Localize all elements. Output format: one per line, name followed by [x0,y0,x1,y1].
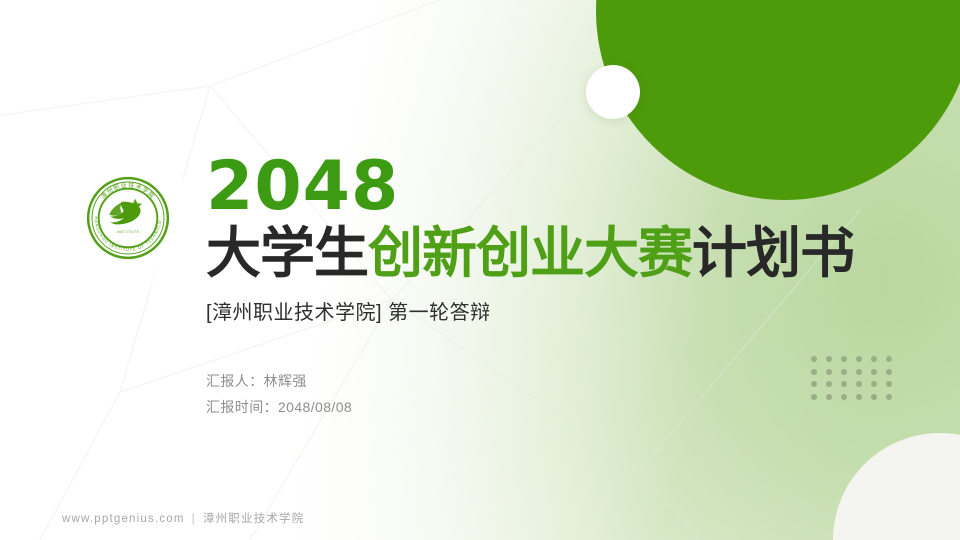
grid-dot [811,356,817,362]
grid-dot [841,369,847,375]
subtitle: [漳州职业技术学院] 第一轮答辩 [206,296,846,325]
grid-dot [886,369,892,375]
headline-tail: 计划书 [692,222,854,284]
grid-dot [886,381,892,387]
grid-dot [856,381,862,387]
headline-highlight: 创新创业大赛 [368,222,692,284]
grid-dot [871,369,877,375]
title-slide: 漳州职业技术学院 ZHANGZHOU INSTITUTE OF TECHNOLO… [0,0,960,540]
year-heading: 2048 [206,152,846,221]
university-logo-icon: 漳州职业技术学院 ZHANGZHOU INSTITUTE OF TECHNOLO… [80,170,176,266]
grid-dot [811,394,817,400]
grid-dot [856,394,862,400]
date-line: 汇报时间：2048/08/08 [206,395,352,421]
grid-dot [811,369,817,375]
grid-dot [841,381,847,387]
title-text-block: 2048 大学生创新创业大赛计划书 [漳州职业技术学院] 第一轮答辩 [206,152,846,325]
decorative-dot-grid [806,353,896,403]
presentation-meta: 汇报人：林辉强 汇报时间：2048/08/08 [206,369,352,421]
presenter-line: 汇报人：林辉强 [206,369,352,395]
grid-dot [856,356,862,362]
grid-dot [841,356,847,362]
grid-dot [886,356,892,362]
footer-site: www.pptgenius.com [62,513,185,525]
grid-dot [871,381,877,387]
grid-dot [841,394,847,400]
svg-text:INSTITUTE: INSTITUTE [117,230,140,234]
main-headline: 大学生创新创业大赛计划书 [206,223,846,284]
grid-dot [826,381,832,387]
footer-org: 漳州职业技术学院 [203,513,305,525]
footer: www.pptgenius.com|漳州职业技术学院 [62,510,304,526]
grid-dot [826,369,832,375]
grid-dot [871,356,877,362]
grid-dot [811,381,817,387]
grid-dot [856,369,862,375]
footer-separator: | [192,513,196,525]
decorative-white-dot-circle [586,65,640,119]
grid-dot [826,356,832,362]
headline-lead: 大学生 [206,222,368,284]
grid-dot [871,394,877,400]
grid-dot [826,394,832,400]
grid-dot [886,394,892,400]
